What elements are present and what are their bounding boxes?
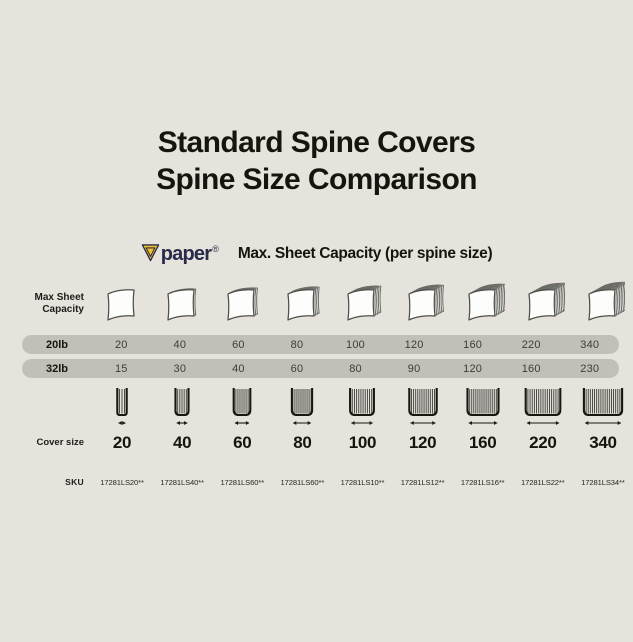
sku-value-3: 17281LS60**	[272, 478, 332, 487]
capacity-row-20lb-pill: 20lb 20406080100120160220340	[22, 335, 619, 354]
capacity-32lb-value-1: 30	[151, 363, 210, 375]
capacity-32lb-value-8: 230	[561, 363, 620, 375]
capacity-20lb-value-4: 100	[326, 339, 385, 351]
capacity-32lb-value-4: 80	[326, 363, 385, 375]
capacity-20lb-value-3: 80	[268, 339, 327, 351]
spine-icon-4	[332, 386, 392, 430]
capacity-32lb-cells: 153040608090120160230	[92, 363, 619, 375]
spine-icon-cells	[92, 386, 633, 430]
capacity-20lb-value-6: 160	[443, 339, 502, 351]
capacity-32lb-value-7: 160	[502, 363, 561, 375]
logo-subtitle-row: paper ® Max. Sheet Capacity (per spine s…	[0, 241, 633, 266]
capacity-20lb-value-5: 120	[385, 339, 444, 351]
max-sheet-capacity-label: Max Sheet Capacity	[0, 292, 92, 316]
subtitle: Max. Sheet Capacity (per spine size)	[238, 245, 492, 263]
capacity-20lb-value-7: 220	[502, 339, 561, 351]
sku-value-7: 17281LS22**	[513, 478, 573, 487]
title-line-2: Spine Size Comparison	[0, 161, 633, 198]
cover-size-value-8: 340	[573, 433, 633, 453]
max-sheet-capacity-line1: Max Sheet	[0, 292, 84, 304]
max-sheet-capacity-line2: Capacity	[0, 304, 84, 316]
sku-cells: 17281LS20**17281LS40**17281LS60**17281LS…	[92, 478, 633, 487]
capacity-32lb-value-0: 15	[92, 363, 151, 375]
capacity-32lb-value-3: 60	[268, 363, 327, 375]
spine-icon-8	[573, 386, 633, 430]
capacity-20lb-value-0: 20	[92, 339, 151, 351]
cover-size-value-0: 20	[92, 433, 152, 453]
cover-size-row: Cover size 20406080100120160220340	[0, 432, 633, 454]
sku-value-2: 17281LS60**	[212, 478, 272, 487]
cover-size-value-3: 80	[272, 433, 332, 453]
capacity-20lb-value-1: 40	[151, 339, 210, 351]
weight-label-20lb: 20lb	[22, 339, 92, 351]
sku-value-8: 17281LS34**	[573, 478, 633, 487]
spine-icon-1	[152, 386, 212, 430]
cover-size-value-7: 220	[513, 433, 573, 453]
cover-size-value-4: 100	[332, 433, 392, 453]
paper-stack-icon-0	[92, 278, 152, 330]
cover-size-cells: 20406080100120160220340	[92, 433, 633, 453]
capacity-row-32lb-pill: 32lb 153040608090120160230	[22, 359, 619, 378]
cover-size-label: Cover size	[0, 437, 92, 449]
sku-value-4: 17281LS10**	[332, 478, 392, 487]
capacity-32lb-value-5: 90	[385, 363, 444, 375]
paper-stack-icon-1	[152, 278, 212, 330]
title-line-1: Standard Spine Covers	[0, 124, 633, 161]
page-title: Standard Spine Covers Spine Size Compari…	[0, 124, 633, 198]
sku-label: SKU	[0, 476, 92, 488]
paper-stack-icon-6	[453, 278, 513, 330]
spine-icon-0	[92, 386, 152, 430]
sku-value-0: 17281LS20**	[92, 478, 152, 487]
spine-size-comparison-infographic: { "page": { "background_color": "#e5e3db…	[0, 0, 633, 642]
paper-stack-icon-3	[272, 278, 332, 330]
paper-stack-row: Max Sheet Capacity	[0, 278, 633, 330]
weight-label-32lb: 32lb	[22, 363, 92, 375]
cover-size-value-2: 60	[212, 433, 272, 453]
spine-icon-5	[393, 386, 453, 430]
paper-stack-icon-8	[573, 278, 633, 330]
capacity-20lb-cells: 20406080100120160220340	[92, 339, 619, 351]
cover-size-value-6: 160	[453, 433, 513, 453]
registered-mark-icon: ®	[212, 244, 219, 254]
sku-value-5: 17281LS12**	[393, 478, 453, 487]
cover-size-value-1: 40	[152, 433, 212, 453]
spine-icon-6	[453, 386, 513, 430]
vpaper-logo: paper ®	[141, 241, 219, 266]
spine-icon-3	[272, 386, 332, 430]
paper-stack-icon-4	[332, 278, 392, 330]
capacity-row-20lb: 20lb 20406080100120160220340	[0, 335, 633, 354]
sku-value-1: 17281LS40**	[152, 478, 212, 487]
cover-size-value-5: 120	[393, 433, 453, 453]
paper-stack-icon-5	[393, 278, 453, 330]
spine-icon-7	[513, 386, 573, 430]
logo-wordmark: paper	[161, 243, 211, 266]
paper-stack-icon-2	[212, 278, 272, 330]
sku-row: SKU 17281LS20**17281LS40**17281LS60**172…	[0, 474, 633, 490]
capacity-32lb-value-2: 40	[209, 363, 268, 375]
sku-value-6: 17281LS16**	[453, 478, 513, 487]
capacity-20lb-value-8: 340	[561, 339, 620, 351]
capacity-20lb-value-2: 60	[209, 339, 268, 351]
paper-stack-icon-7	[513, 278, 573, 330]
paper-stack-cells	[92, 278, 633, 330]
spine-icon-2	[212, 386, 272, 430]
logo-v-icon	[141, 243, 160, 262]
capacity-32lb-value-6: 120	[443, 363, 502, 375]
spine-icon-row	[0, 386, 633, 430]
capacity-row-32lb: 32lb 153040608090120160230	[0, 359, 633, 378]
